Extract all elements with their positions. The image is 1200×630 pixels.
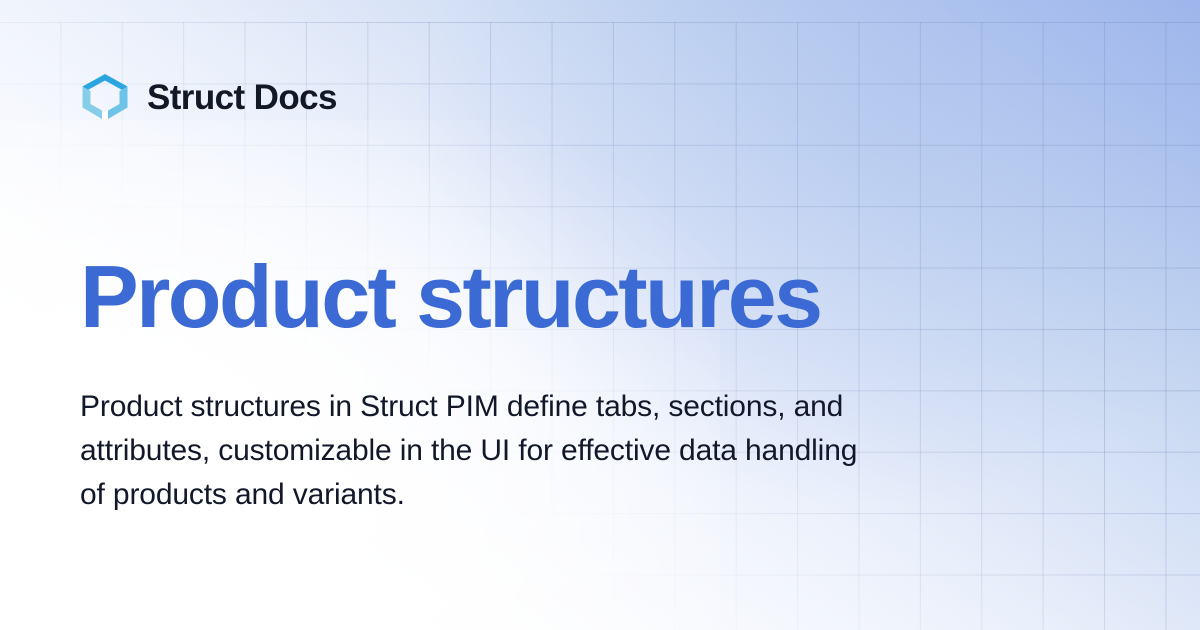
og-card: Struct Docs Product structures Product s…: [0, 0, 1200, 630]
hexagon-cube-icon: [80, 72, 130, 122]
brand-logo[interactable]: Struct Docs: [80, 72, 337, 122]
brand-name: Struct Docs: [147, 80, 337, 115]
page-description: Product structures in Struct PIM define …: [80, 385, 880, 517]
card-content: Struct Docs Product structures Product s…: [0, 0, 1200, 630]
page-title: Product structures: [80, 253, 1100, 341]
